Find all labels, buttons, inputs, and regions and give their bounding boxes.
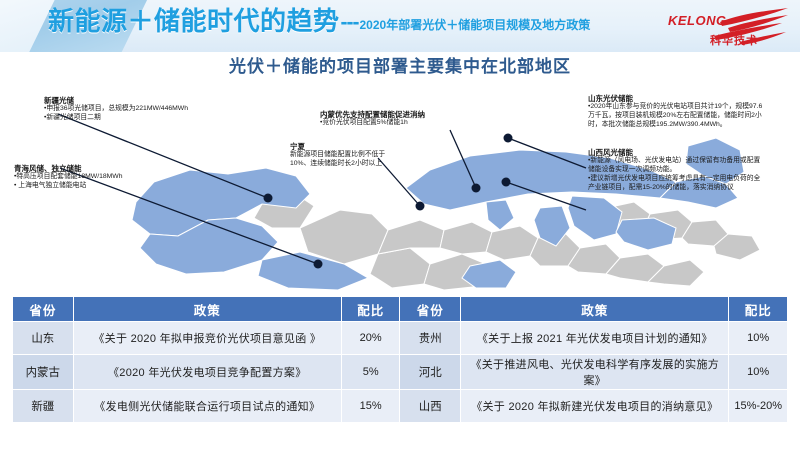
callout-shandong: 山东光伏储能 •2020年山东参与竞价的光伏电站项目共计19个，规模97.6万千… xyxy=(588,94,766,130)
cell-ratio: 10% xyxy=(729,322,788,355)
col-header-policy-right: 政策 xyxy=(461,297,729,322)
cell-policy: 《关于 2020 年拟申报竞价光伏项目意见函 》 xyxy=(73,322,341,355)
cell-ratio: 20% xyxy=(341,322,400,355)
table-row: 山东 《关于 2020 年拟申报竞价光伏项目意见函 》 20% 贵州 《关于上报… xyxy=(13,322,788,355)
cell-ratio: 15%-20% xyxy=(729,390,788,423)
title-block: 新能源＋储能时代的趋势 --- 2020年部署光伏＋储能项目规模及地方政策 xyxy=(48,8,590,34)
callout-line: •竞价光伏项目配置5%储能1h xyxy=(320,119,425,128)
cell-policy: 《关于上报 2021 年光伏发电项目计划的通知》 xyxy=(461,322,729,355)
callout-line: •特高压项目配套储能18MW/18MWh xyxy=(14,173,123,182)
cell-ratio: 10% xyxy=(729,355,788,390)
col-header-province-left: 省份 xyxy=(13,297,74,322)
cell-province: 山西 xyxy=(400,390,461,423)
callout-title: 新疆光储 xyxy=(44,96,188,105)
callout-line: 新能源项目储能配置比例不低于10%、连续储能时长2小时以上 xyxy=(290,151,402,169)
table-header-row: 省份 政策 配比 省份 政策 配比 xyxy=(13,297,788,322)
col-header-ratio-left: 配比 xyxy=(341,297,400,322)
callout-line: •申报36项光储项目，总规模为221MW/446MWh xyxy=(44,105,188,114)
section-subtitle: 光伏＋储能的项目部署主要集中在北部地区 xyxy=(0,52,800,77)
cell-policy: 《2020 年光伏发电项目竞争配置方案》 xyxy=(73,355,341,390)
callout-ningxia: 宁夏 新能源项目储能配置比例不低于10%、连续储能时长2小时以上 xyxy=(290,142,402,169)
callout-neimenggu: 内蒙优先支持配置储能促进消纳 •竞价光伏项目配置5%储能1h xyxy=(320,110,425,128)
callout-line: •2020年山东参与竞价的光伏电站项目共计19个，规模97.6万千瓦，按项目装机… xyxy=(588,103,766,129)
callout-line: • 上海电气独立储能电站 xyxy=(14,182,123,191)
col-header-policy-left: 政策 xyxy=(73,297,341,322)
page-subtitle-inline: 2020年部署光伏＋储能项目规模及地方政策 xyxy=(360,19,591,31)
page-title: 新能源＋储能时代的趋势 xyxy=(48,8,340,34)
callout-title: 宁夏 xyxy=(290,142,402,151)
cell-province: 内蒙古 xyxy=(13,355,74,390)
cell-policy: 《发电侧光伏储能联合运行项目试点的通知》 xyxy=(73,390,341,423)
cell-ratio: 5% xyxy=(341,355,400,390)
cell-province: 河北 xyxy=(400,355,461,390)
col-header-province-right: 省份 xyxy=(400,297,461,322)
callout-xinjiang: 新疆光储 •申报36项光储项目，总规模为221MW/446MWh •新疆光储项目… xyxy=(44,96,188,123)
callout-line: •新能源（风电场、光伏发电站）通过保留有功备用或配置储能设备实现一次调频功能。 xyxy=(588,157,764,175)
table-row: 内蒙古 《2020 年光伏发电项目竞争配置方案》 5% 河北 《关于推进风电、光… xyxy=(13,355,788,390)
cell-ratio: 15% xyxy=(341,390,400,423)
cell-province: 贵州 xyxy=(400,322,461,355)
callout-line: •建议新增光伏发电项目应统筹考虑具有一定用电负荷的全产业链项目，配需15-20%… xyxy=(588,175,764,193)
callout-title: 青海风储、独立储能 xyxy=(14,164,123,173)
logo-swoosh-icon xyxy=(710,6,790,46)
kelong-logo: KELONG 科华技术 xyxy=(668,6,790,48)
cell-province: 山东 xyxy=(13,322,74,355)
table-row: 新疆 《发电侧光伏储能联合运行项目试点的通知》 15% 山西 《关于 2020 … xyxy=(13,390,788,423)
callout-title: 山西风光储能 xyxy=(588,148,764,157)
callout-title: 内蒙优先支持配置储能促进消纳 xyxy=(320,110,425,119)
callout-line: •新疆光储项目二期 xyxy=(44,114,188,123)
callout-qinghai: 青海风储、独立储能 •特高压项目配套储能18MW/18MWh • 上海电气独立储… xyxy=(14,164,123,191)
title-dash: --- xyxy=(341,12,359,33)
page-header: 新能源＋储能时代的趋势 --- 2020年部署光伏＋储能项目规模及地方政策 KE… xyxy=(0,0,800,52)
cell-province: 新疆 xyxy=(13,390,74,423)
policy-table: 省份 政策 配比 省份 政策 配比 山东 《关于 2020 年拟申报竞价光伏项目… xyxy=(12,296,788,423)
cell-policy: 《关于推进风电、光伏发电科学有序发展的实施方案》 xyxy=(461,355,729,390)
cell-policy: 《关于 2020 年拟新建光伏发电项目的消纳意见》 xyxy=(461,390,729,423)
callout-title: 山东光伏储能 xyxy=(588,94,766,103)
col-header-ratio-right: 配比 xyxy=(729,297,788,322)
callout-shanxi: 山西风光储能 •新能源（风电场、光伏发电站）通过保留有功备用或配置储能设备实现一… xyxy=(588,148,764,193)
